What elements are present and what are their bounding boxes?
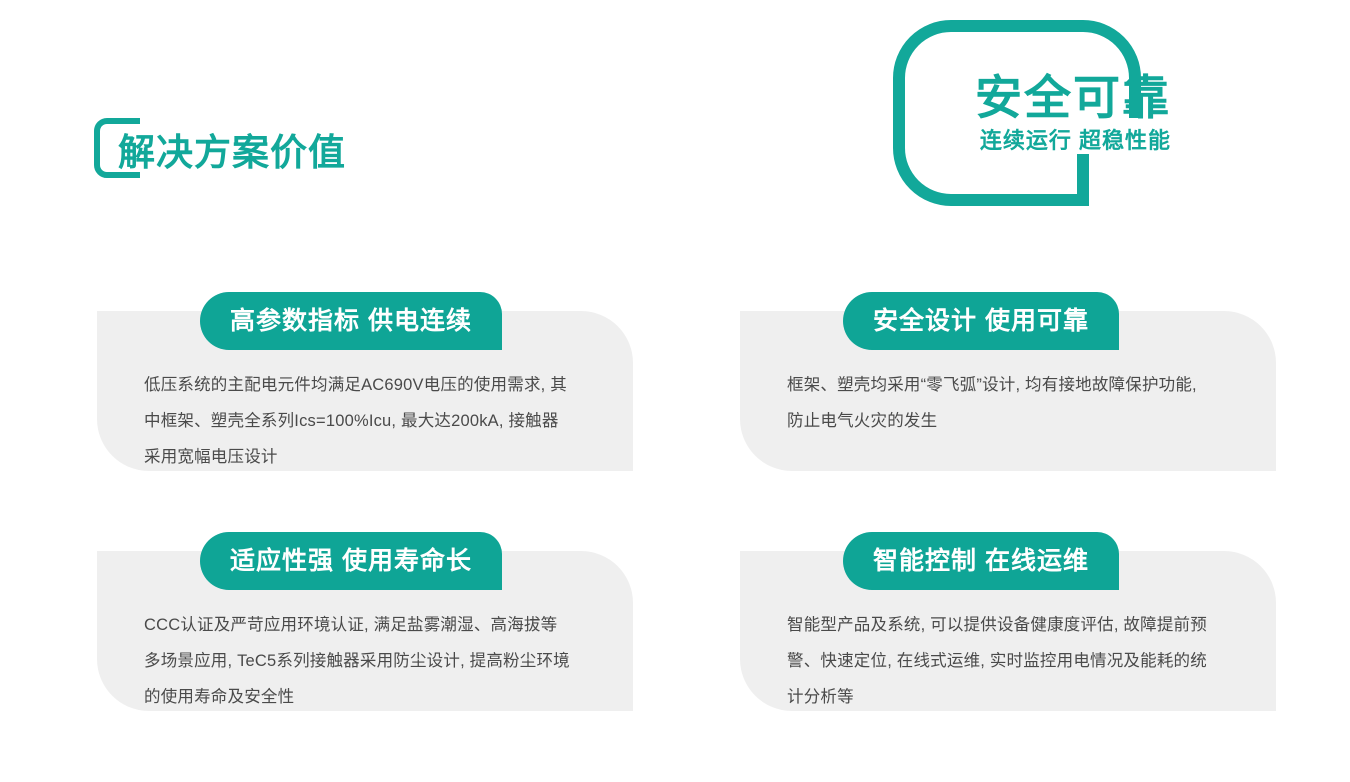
value-card: 适应性强 使用寿命长 CCC认证及严苛应用环境认证, 满足盐雾潮湿、高海拔等多场…: [97, 551, 633, 711]
value-card-title: 安全设计 使用可靠: [873, 309, 1089, 334]
value-card: 安全设计 使用可靠 框架、塑壳均采用“零飞弧”设计, 均有接地故障保护功能, 防…: [740, 311, 1276, 471]
value-card: 高参数指标 供电连续 低压系统的主配电元件均满足AC690V电压的使用需求, 其…: [97, 311, 633, 471]
value-card-title: 智能控制 在线运维: [873, 549, 1089, 574]
value-card-body: 智能型产品及系统, 可以提供设备健康度评估, 故障提前预警、快速定位, 在线式运…: [787, 607, 1217, 715]
value-card-title-pill: 高参数指标 供电连续: [200, 292, 502, 350]
value-card-body: 低压系统的主配电元件均满足AC690V电压的使用需求, 其中框架、塑壳全系列Ic…: [144, 367, 574, 475]
value-card-title: 适应性强 使用寿命长: [230, 549, 472, 574]
page-root: 解决方案价值 安全可靠 连续运行 超稳性能 高参数指标 供电连续 低压系统的主配…: [0, 0, 1350, 782]
value-card-title-pill: 智能控制 在线运维: [843, 532, 1119, 590]
value-card-body: 框架、塑壳均采用“零飞弧”设计, 均有接地故障保护功能, 防止电气火灾的发生: [787, 367, 1217, 439]
value-card-title-pill: 安全设计 使用可靠: [843, 292, 1119, 350]
value-card-body: CCC认证及严苛应用环境认证, 满足盐雾潮湿、高海拔等多场景应用, TeC5系列…: [144, 607, 574, 715]
value-card-grid: 高参数指标 供电连续 低压系统的主配电元件均满足AC690V电压的使用需求, 其…: [0, 0, 1350, 782]
value-card-title-pill: 适应性强 使用寿命长: [200, 532, 502, 590]
value-card: 智能控制 在线运维 智能型产品及系统, 可以提供设备健康度评估, 故障提前预警、…: [740, 551, 1276, 711]
value-card-title: 高参数指标 供电连续: [230, 309, 472, 334]
